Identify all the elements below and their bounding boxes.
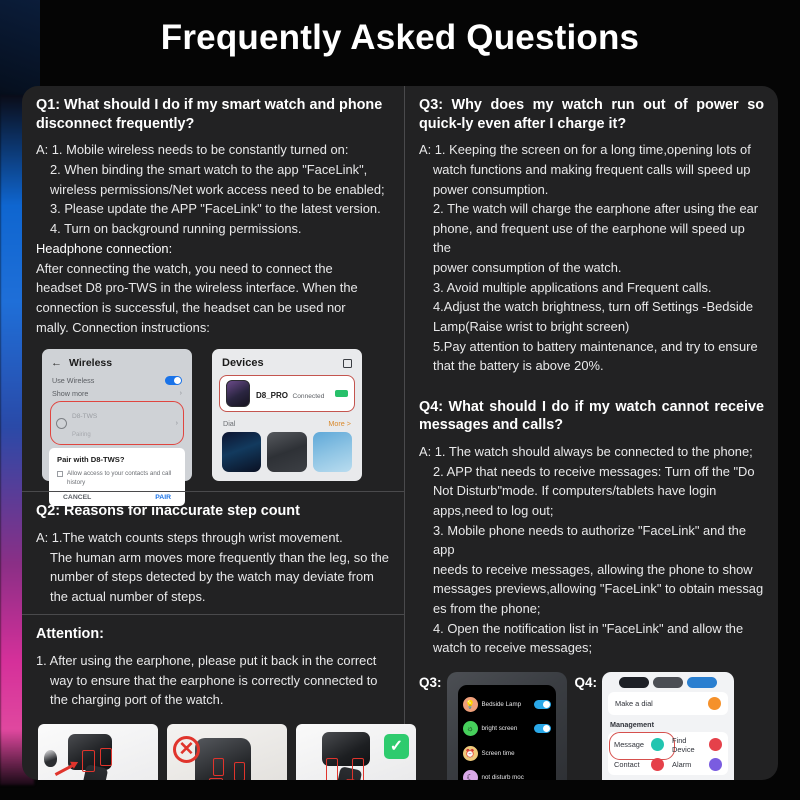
show-more-label: Show more — [52, 389, 88, 398]
pair-dialog-title: Pair with D8-TWS? — [57, 455, 177, 464]
q4-answer-line: watch to receive messages; — [419, 638, 764, 658]
watch-setting-label: Bedside Lamp — [482, 701, 530, 708]
management-heading: Management — [608, 719, 728, 732]
q1-screenshots: ← Wireless Use Wireless Show more › — [22, 345, 404, 491]
q4-answer-line: needs to receive messages, allowing the … — [419, 560, 764, 580]
q1-answer-line: 4. Turn on background running permission… — [36, 219, 390, 239]
attention-heading: Attention: — [36, 625, 390, 644]
lamp-icon: 💡 — [463, 697, 478, 712]
q1-panel: Q1: What should I do if my smart watch a… — [22, 86, 404, 345]
chevron-right-icon: › — [180, 390, 182, 397]
management-grid: Message Find Device Contact — [608, 732, 728, 775]
watch-face-list — [217, 432, 357, 472]
q1-headphone-heading: Headphone connection: — [36, 239, 390, 258]
message-item[interactable]: Message — [614, 736, 664, 754]
q3-question: Q3: Why does my watch run out of power s… — [419, 96, 764, 133]
wireless-device-text: D8-TWS Pairing — [72, 405, 171, 441]
watch-setting-label: bright screen — [482, 725, 530, 732]
dial-label: Dial — [223, 419, 235, 428]
devices-title: Devices — [222, 357, 264, 369]
q1-headphone-line: mally. Connection instructions: — [36, 318, 390, 338]
q3-answer-line: 2. The watch will charge the earphone af… — [419, 199, 764, 219]
watch-setting-toggle[interactable] — [534, 700, 551, 709]
q1-headphone-line: After connecting the watch, you need to … — [36, 259, 390, 279]
watch-setting-row[interactable]: ☾ not disturb moc — [463, 770, 551, 780]
use-wireless-toggle[interactable] — [165, 376, 182, 385]
watch-settings-screenshot: 💡 Bedside Lamp ☼ bright screen ⏰ — [447, 672, 567, 780]
make-dial-icon — [708, 697, 721, 710]
q2-panel: Q2: Reasons for inaccurate step count A:… — [22, 491, 404, 614]
q4-answer-line: apps,need to log out; — [419, 501, 764, 521]
find-device-item[interactable]: Find Device — [672, 736, 722, 754]
q3-answer-line: 4.Adjust the watch brightness, turn off … — [419, 297, 764, 317]
q1-headphone-line: connection is successful, the headset ca… — [36, 298, 390, 318]
attention-line: 1. After using the earphone, please put … — [36, 651, 390, 671]
watch-setting-row[interactable]: 💡 Bedside Lamp — [463, 697, 551, 712]
right-column: Q3: Why does my watch run out of power s… — [405, 86, 778, 780]
q1-question: Q1: What should I do if my smart watch a… — [36, 96, 390, 133]
q1-answer-line: A: 1. Mobile wireless needs to be consta… — [36, 140, 390, 160]
wireless-device-row[interactable]: D8-TWS Pairing › — [50, 401, 184, 445]
wireless-header: ← Wireless — [47, 354, 187, 374]
watch-face-chip[interactable] — [619, 677, 649, 688]
use-wireless-label: Use Wireless — [52, 376, 94, 385]
q3-answer-line: that the battery is above 20%. — [419, 356, 764, 376]
q3-answer-line: 5.Pay attention to battery maintenance, … — [419, 337, 764, 357]
make-a-dial-label: Make a dial — [615, 699, 653, 708]
faq-board: Q1: What should I do if my smart watch a… — [22, 86, 778, 780]
q3-answer-line: power consumption. — [419, 180, 764, 200]
check-mark-icon: ✓ — [384, 734, 409, 759]
wireless-title: Wireless — [69, 357, 112, 369]
watch-thumbnail — [226, 380, 250, 407]
q2-answer-line: The human arm moves more frequently than… — [36, 548, 390, 568]
alarm-label: Alarm — [672, 760, 691, 769]
show-more-row[interactable]: Show more › — [47, 387, 187, 400]
q3-answer-line: A: 1. Keeping the screen on for a long t… — [419, 140, 764, 160]
q1-answer-line: wireless permissions/Net work access nee… — [36, 180, 390, 200]
alarm-icon — [709, 758, 722, 771]
highlight-box — [234, 762, 245, 780]
q3-answer-line: Lamp(Raise wrist to bright screen) — [419, 317, 764, 337]
connected-device-info: D8_PRO Connected — [256, 385, 329, 403]
watch-setting-label: Screen time — [482, 750, 551, 757]
find-device-label: Find Device — [672, 736, 709, 754]
brightness-icon: ☼ — [463, 721, 478, 736]
highlight-box — [209, 778, 223, 780]
app-top-thumbnails — [608, 677, 728, 688]
more-link[interactable]: More > — [328, 419, 351, 428]
wireless-device-name: D8-TWS — [72, 413, 97, 420]
left-column: Q1: What should I do if my smart watch a… — [22, 86, 405, 780]
wireless-device-status: Pairing — [72, 432, 91, 438]
q4-panel: Q4: What should I do if my watch cannot … — [405, 384, 778, 666]
connected-device-name: D8_PRO — [256, 391, 288, 400]
incorrect-placement-photo: ✕ — [167, 724, 287, 780]
q2-question: Q2: Reasons for inaccurate step count — [36, 502, 390, 521]
connected-device-status: Connected — [292, 393, 324, 400]
watch-setting-row[interactable]: ☼ bright screen — [463, 721, 551, 736]
battery-icon — [335, 390, 348, 397]
use-wireless-row[interactable]: Use Wireless — [47, 374, 187, 387]
q4-question: Q4: What should I do if my watch cannot … — [419, 398, 764, 435]
cross-mark-icon: ✕ — [173, 736, 200, 763]
watch-face-thumbnail[interactable] — [313, 432, 352, 472]
watch-screen: 💡 Bedside Lamp ☼ bright screen ⏰ — [458, 685, 556, 780]
correct-placement-photo: ✓ — [296, 724, 416, 780]
q4-answer-line: A: 1. The watch should always be connect… — [419, 442, 764, 462]
watch-face-thumbnail[interactable] — [222, 432, 261, 472]
facelink-app-screenshot: Make a dial Management Message Find Devi… — [602, 672, 734, 780]
q4-answer-line: 3. Mobile phone needs to authorize "Face… — [419, 521, 764, 560]
q2-answer-line: A: 1.The watch counts steps through wris… — [36, 528, 390, 548]
watch-face-chip[interactable] — [687, 677, 717, 688]
find-device-icon — [709, 738, 722, 751]
q4-answer-line: Not Disturb"mode. If computers/tablets h… — [419, 481, 764, 501]
q4-answer-line: 2. APP that needs to receive messages: T… — [419, 462, 764, 482]
q1-headphone-line: headset D8 pro-TWS in the wireless inter… — [36, 278, 390, 298]
wireless-settings-screenshot: ← Wireless Use Wireless Show more › — [42, 349, 192, 481]
pair-dialog-text: Allow access to your contacts and call h… — [67, 470, 177, 487]
checkbox-icon[interactable] — [57, 471, 63, 477]
highlight-box — [326, 758, 338, 780]
q4-answer-line: messages previews,allowing "FaceLink" to… — [419, 579, 764, 599]
connected-device-card[interactable]: D8_PRO Connected — [219, 375, 355, 412]
back-arrow-icon[interactable]: ← — [51, 357, 62, 369]
highlight-box — [213, 758, 224, 776]
earbud-insertion-diagram — [38, 724, 158, 780]
highlight-box — [100, 748, 112, 766]
scan-icon[interactable] — [343, 359, 352, 368]
q3-answer-line: 3. Avoid multiple applications and Frequ… — [419, 278, 764, 298]
q2-answer-line: number of steps detected by the watch ma… — [36, 567, 390, 587]
q3-answer-line: power consumption of the watch. — [419, 258, 764, 278]
q2-answer-line: the actual number of steps. — [36, 587, 390, 607]
highlight-box — [82, 750, 95, 772]
watch-face-thumbnail[interactable] — [267, 432, 306, 472]
watch-setting-row[interactable]: ⏰ Screen time — [463, 746, 551, 761]
attention-photos: ✕ ✓ — [22, 718, 404, 780]
dial-section-header: Dial More > — [217, 412, 357, 432]
watch-setting-label: not disturb moc — [482, 774, 551, 780]
attention-panel: Attention: 1. After using the earphone, … — [22, 614, 404, 718]
q3-image-label: Q3: — [419, 672, 442, 690]
attention-line: way to ensure that the earphone is corre… — [36, 671, 390, 691]
q3-answer-line: phone, and frequent use of the earphone … — [419, 219, 764, 258]
contact-label: Contact — [614, 760, 639, 769]
faq-page: Frequently Asked Questions Q1: What shou… — [0, 0, 800, 800]
q1-answer-line: 2. When binding the smart watch to the a… — [36, 160, 390, 180]
message-label: Message — [614, 740, 644, 749]
clock-icon: ⏰ — [463, 746, 478, 761]
watch-face-chip[interactable] — [653, 677, 683, 688]
q4-answer-line: es from the phone; — [419, 599, 764, 619]
q4-screenshot-group: Q4: Make a dial Management — [575, 672, 735, 780]
q4-answer-line: 4. Open the notification list in "FaceLi… — [419, 619, 764, 639]
alarm-item[interactable]: Alarm — [672, 758, 722, 771]
highlight-box — [352, 758, 364, 780]
devices-screenshot: Devices D8_PRO Connected Dial More > — [212, 349, 362, 481]
message-icon — [651, 738, 664, 751]
moon-icon: ☾ — [463, 770, 478, 780]
earbud-icon — [44, 750, 57, 767]
chevron-right-icon: › — [176, 420, 178, 427]
contact-icon — [651, 758, 664, 771]
headset-icon — [56, 418, 67, 429]
q1-answer-line: 3. Please update the APP "FaceLink" to t… — [36, 199, 390, 219]
make-a-dial-row[interactable]: Make a dial — [608, 692, 728, 715]
contact-item[interactable]: Contact — [614, 758, 664, 771]
q3-panel: Q3: Why does my watch run out of power s… — [405, 86, 778, 384]
q3-answer-line: watch functions and making frequent call… — [419, 160, 764, 180]
bottom-screenshots: Q3: 💡 Bedside Lamp ☼ bright screen — [405, 666, 778, 780]
pair-dialog-checkbox-row[interactable]: Allow access to your contacts and call h… — [57, 470, 177, 487]
attention-line: the charging port of the watch. — [36, 690, 390, 710]
q4-image-label: Q4: — [575, 672, 598, 690]
q3-screenshot-group: Q3: 💡 Bedside Lamp ☼ bright screen — [419, 672, 567, 780]
app-bottom-nav: Home Exercise Devices — [608, 775, 728, 780]
page-title: Frequently Asked Questions — [0, 18, 800, 58]
watch-setting-toggle[interactable] — [534, 724, 551, 733]
devices-header: Devices — [217, 354, 357, 375]
